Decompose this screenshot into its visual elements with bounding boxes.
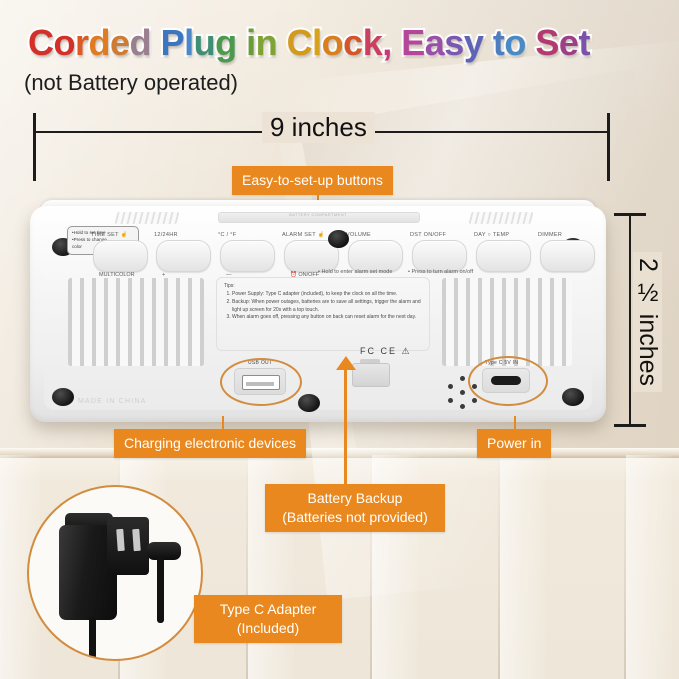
title-letter-17: o xyxy=(322,22,344,63)
speaker-hole xyxy=(448,384,453,389)
title-letter-3: d xyxy=(89,22,111,63)
plug-prong xyxy=(116,529,125,551)
panel-groove xyxy=(246,455,248,679)
title-letter-4: e xyxy=(110,22,130,63)
title-letter-15: C xyxy=(287,22,313,63)
top-vent-left xyxy=(115,212,180,224)
page-title: Corded Plug in Clock, Easy to Set xyxy=(28,22,590,64)
device-button-7[interactable] xyxy=(540,240,595,272)
speaker-hole-center xyxy=(460,390,465,395)
width-dim-cap-right xyxy=(607,113,610,181)
sensor-dot xyxy=(328,230,349,248)
title-letter-32: t xyxy=(578,22,590,63)
panel-band xyxy=(500,455,546,679)
title-letter-6 xyxy=(151,22,161,63)
title-letter-0: C xyxy=(28,22,54,63)
title-letter-16: l xyxy=(312,22,322,63)
button-label-3: ALARM SET ☝ xyxy=(282,232,325,238)
tips-plate: Tips: Power Supply: Type C adapter (incl… xyxy=(216,277,430,351)
callout-battery-backup: Battery Backup (Batteries not provided) xyxy=(265,484,445,532)
adapter-cable xyxy=(157,557,164,623)
tips-item: Backup: When power outages, batteries ar… xyxy=(232,299,422,315)
title-letter-2: r xyxy=(75,22,89,63)
vent-grille-right xyxy=(442,278,572,366)
height-dim-line xyxy=(629,214,631,426)
plug-prong xyxy=(132,529,141,551)
screw xyxy=(562,388,584,406)
title-letter-10: g xyxy=(215,22,237,63)
tips-item: Power Supply: Type C adapter (included),… xyxy=(232,291,422,299)
title-letter-26 xyxy=(483,22,493,63)
title-letter-27: t xyxy=(493,22,505,63)
speaker-hole xyxy=(472,398,477,403)
battery-callout-line2: (Batteries not provided) xyxy=(275,508,435,527)
button-label-0: TIME SET ☝ xyxy=(91,232,128,238)
button-label-2: °C / °F xyxy=(218,232,236,238)
panel-groove xyxy=(624,455,626,679)
panel-groove xyxy=(498,455,500,679)
title-letter-31: e xyxy=(559,22,579,63)
adapter-plug-block xyxy=(107,517,149,575)
battery-arrow-icon xyxy=(336,356,356,372)
title-letter-7: P xyxy=(161,22,185,63)
title-letter-22: E xyxy=(401,22,425,63)
title-letter-13: n xyxy=(256,22,278,63)
title-letter-23: a xyxy=(425,22,445,63)
title-letter-12: i xyxy=(246,22,256,63)
screw xyxy=(298,394,320,412)
width-dim-label: 9 inches xyxy=(262,112,375,143)
device-button-1[interactable] xyxy=(156,240,211,272)
height-dim-label: 2 ½ inches xyxy=(633,252,662,392)
panel-band xyxy=(626,455,672,679)
title-letter-18: c xyxy=(343,22,363,63)
power-in-highlight-ring xyxy=(468,356,548,406)
device-button-0[interactable] xyxy=(93,240,148,272)
battery-door xyxy=(352,363,390,387)
device-button-2[interactable] xyxy=(220,240,275,272)
wainscot-ledge xyxy=(0,448,679,458)
power-in-leader xyxy=(514,416,516,430)
title-letter-25: y xyxy=(464,22,484,63)
button-label-4: VOLUME xyxy=(346,232,371,238)
title-letter-20: , xyxy=(382,22,392,63)
title-letter-11 xyxy=(237,22,247,63)
adapter-cable-lower xyxy=(89,617,96,661)
battery-leader xyxy=(344,368,347,486)
title-letter-29 xyxy=(526,22,536,63)
title-letter-21 xyxy=(392,22,402,63)
button-label-5: DST ON/OFF xyxy=(410,232,446,238)
screw xyxy=(52,388,74,406)
usb-out-highlight-ring xyxy=(220,358,302,406)
vent-grille-left xyxy=(68,278,204,366)
callout-type-c-adapter: Type C Adapter (Included) xyxy=(194,595,342,643)
adapter-callout-line1: Type C Adapter xyxy=(204,600,332,619)
adapter-callout-line2: (Included) xyxy=(204,619,332,638)
top-vent-right xyxy=(469,212,534,224)
title-letter-5: d xyxy=(130,22,152,63)
speaker-hole xyxy=(448,398,453,403)
width-dim-cap-left xyxy=(33,113,36,181)
clock-back-panel: BATTERY COMPARTMENT •Hold to set time •P… xyxy=(30,206,606,422)
title-letter-24: s xyxy=(444,22,464,63)
charging-leader xyxy=(222,416,224,430)
made-in-china-text: MADE IN CHINA xyxy=(78,398,147,405)
page-subtitle: (not Battery operated) xyxy=(24,70,238,96)
device-button-4[interactable] xyxy=(348,240,403,272)
tips-item: When alarm goes off, pressing any button… xyxy=(232,314,422,322)
button-label-6: DAY ○ TEMP xyxy=(474,232,509,238)
title-letter-14 xyxy=(277,22,287,63)
usb-c-connector-icon xyxy=(147,542,181,560)
device-button-5[interactable] xyxy=(412,240,467,272)
title-letter-8: l xyxy=(184,22,194,63)
battery-callout-line1: Battery Backup xyxy=(275,489,435,508)
tips-heading: Tips: xyxy=(224,283,422,289)
title-letter-9: u xyxy=(194,22,216,63)
device-body: BATTERY COMPARTMENT •Hold to set time •P… xyxy=(30,206,606,422)
certification-marks: FC CE ⚠ xyxy=(360,346,412,357)
alarm-hint-1: • Hold to enter alarm set mode xyxy=(318,269,392,275)
callout-easy-setup-buttons: Easy-to-set-up buttons xyxy=(232,166,393,195)
infographic-canvas: Corded Plug in Clock, Easy to Set (not B… xyxy=(0,0,679,679)
adapter-photo-circle xyxy=(27,485,203,661)
button-label-1: 12/24HR xyxy=(154,232,178,238)
title-letter-28: o xyxy=(504,22,526,63)
callout-power-in: Power in xyxy=(477,429,551,458)
battery-lid-text: BATTERY COMPARTMENT xyxy=(222,212,414,217)
title-letter-30: S xyxy=(535,22,559,63)
speaker-hole xyxy=(460,376,465,381)
callout-charging-devices: Charging electronic devices xyxy=(114,429,306,458)
speaker-hole xyxy=(460,404,465,409)
title-letter-1: o xyxy=(54,22,76,63)
tips-list: Power Supply: Type C adapter (included),… xyxy=(224,291,422,322)
title-letter-19: k xyxy=(363,22,383,63)
device-button-6[interactable] xyxy=(476,240,531,272)
alarm-hint-2: • Press to turn alarm on/off xyxy=(408,269,473,275)
button-label-7: DIMMER xyxy=(538,232,562,238)
